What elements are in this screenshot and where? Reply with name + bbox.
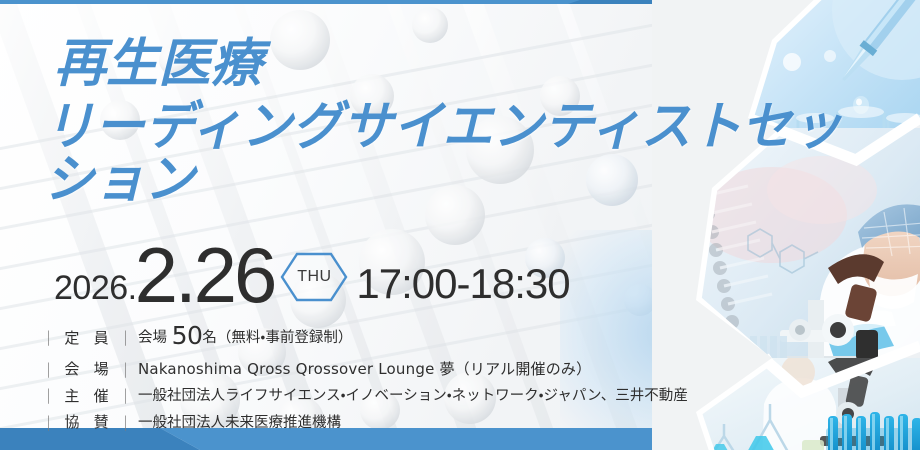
detail-value-venue: Nakanoshima Qross Qrossover Lounge 夢（リアル… — [128, 359, 666, 381]
capacity-number: 50 — [172, 321, 203, 350]
detail-row-organizer: | 主 催 | 一般社団法人ライフサイエンス・イノベーション・ネットワーク・ジャ… — [46, 385, 666, 408]
detail-label-venue: | 会 場 | — [46, 358, 128, 379]
weekday-text: THU — [280, 252, 348, 302]
details-list: | 定 員 | 会場 50名（無料・事前登録制） | 会 場 | Nakanos… — [46, 318, 666, 434]
month-day-text: 2.26 — [135, 240, 275, 310]
label-char-2: 催 — [94, 385, 110, 406]
detail-value-organizer: 一般社団法人ライフサイエンス・イノベーション・ネットワーク・ジャパン、三井不動産 — [128, 386, 688, 407]
detail-value-sponsor: 一般社団法人未来医療推進機構 — [128, 413, 666, 434]
label-char-2: 賛 — [94, 411, 110, 432]
detail-row-sponsor: | 協 賛 | 一般社団法人未来医療推進機構 — [46, 411, 666, 434]
label-bar-left: | — [46, 386, 51, 404]
detail-row-capacity: | 定 員 | 会場 50名（無料・事前登録制） — [46, 318, 666, 354]
detail-label-capacity: | 定 員 | — [46, 327, 128, 348]
label-char-1: 定 — [64, 327, 80, 348]
time-range-text: 17:00-18:30 — [356, 263, 569, 310]
photo-collage — [652, 0, 920, 450]
detail-label-sponsor: | 協 賛 | — [46, 411, 128, 432]
label-bar-left: | — [46, 328, 51, 346]
label-char-1: 協 — [64, 411, 80, 432]
label-char-2: 員 — [94, 327, 110, 348]
label-char-1: 主 — [64, 385, 80, 406]
event-banner: 再生医療 リーディングサイエンティストセッション 2026. 2.26 THU … — [0, 0, 920, 450]
capacity-suffix: 名（無料・事前登録制） — [202, 330, 352, 346]
detail-value-capacity: 会場 50名（無料・事前登録制） — [128, 318, 666, 354]
label-bar-left: | — [46, 360, 51, 378]
capacity-prefix: 会場 — [138, 330, 172, 346]
year-text: 2026. — [54, 271, 137, 310]
label-char-2: 場 — [94, 358, 110, 379]
date-time-row: 2026. 2.26 THU 17:00-18:30 — [54, 236, 570, 310]
label-char-1: 会 — [64, 358, 80, 379]
weekday-hexagon-badge: THU — [280, 252, 348, 302]
label-bar-left: | — [46, 413, 51, 431]
detail-row-venue: | 会 場 | Nakanoshima Qross Qrossover Loun… — [46, 358, 666, 380]
detail-label-organizer: | 主 催 | — [46, 385, 128, 406]
